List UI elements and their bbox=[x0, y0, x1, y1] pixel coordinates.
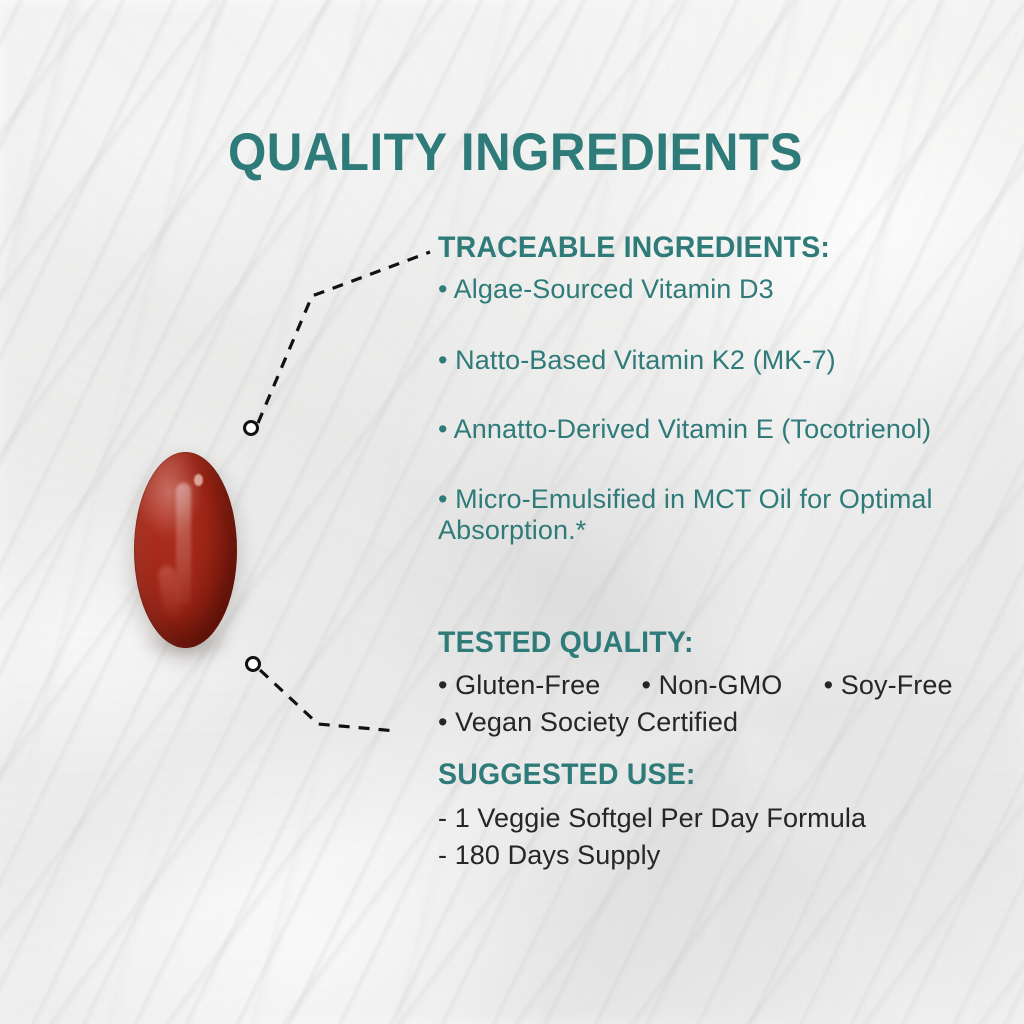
suggested-use-heading: SUGGESTED USE: bbox=[438, 759, 981, 791]
list-item: - 180 Days Supply bbox=[438, 837, 866, 874]
list-item: • Vegan Society Certified bbox=[438, 704, 953, 741]
capsule-rim bbox=[134, 452, 237, 648]
list-item: • Natto-Based Vitamin K2 (MK-7) bbox=[438, 345, 836, 376]
badge-gluten-free: • Gluten-Free bbox=[438, 667, 600, 704]
traceable-ingredients-heading: TRACEABLE INGREDIENTS: bbox=[438, 232, 981, 264]
badge-non-gmo: • Non-GMO bbox=[642, 667, 783, 704]
tested-quality-heading: TESTED QUALITY: bbox=[438, 627, 981, 659]
list-item: • Algae-Sourced Vitamin D3 bbox=[438, 274, 774, 305]
list-item: • Annatto-Derived Vitamin E (Tocotrienol… bbox=[438, 414, 931, 445]
suggested-use-list: - 1 Veggie Softgel Per Day Formula - 180… bbox=[438, 800, 866, 874]
list-item: - 1 Veggie Softgel Per Day Formula bbox=[438, 800, 866, 837]
list-item: • Gluten-Free • Non-GMO • Soy-Free bbox=[438, 667, 953, 704]
product-infographic: QUALITY INGREDIENTS TRACEABLE INGREDIENT… bbox=[0, 0, 1024, 1024]
badge-soy-free: • Soy-Free bbox=[824, 667, 953, 704]
tested-quality-list: • Gluten-Free • Non-GMO • Soy-Free • Veg… bbox=[438, 667, 953, 741]
softgel-capsule-image bbox=[134, 452, 237, 648]
page-title: QUALITY INGREDIENTS bbox=[228, 122, 803, 183]
list-item: • Micro-Emulsified in MCT Oil for Optima… bbox=[438, 484, 1018, 546]
